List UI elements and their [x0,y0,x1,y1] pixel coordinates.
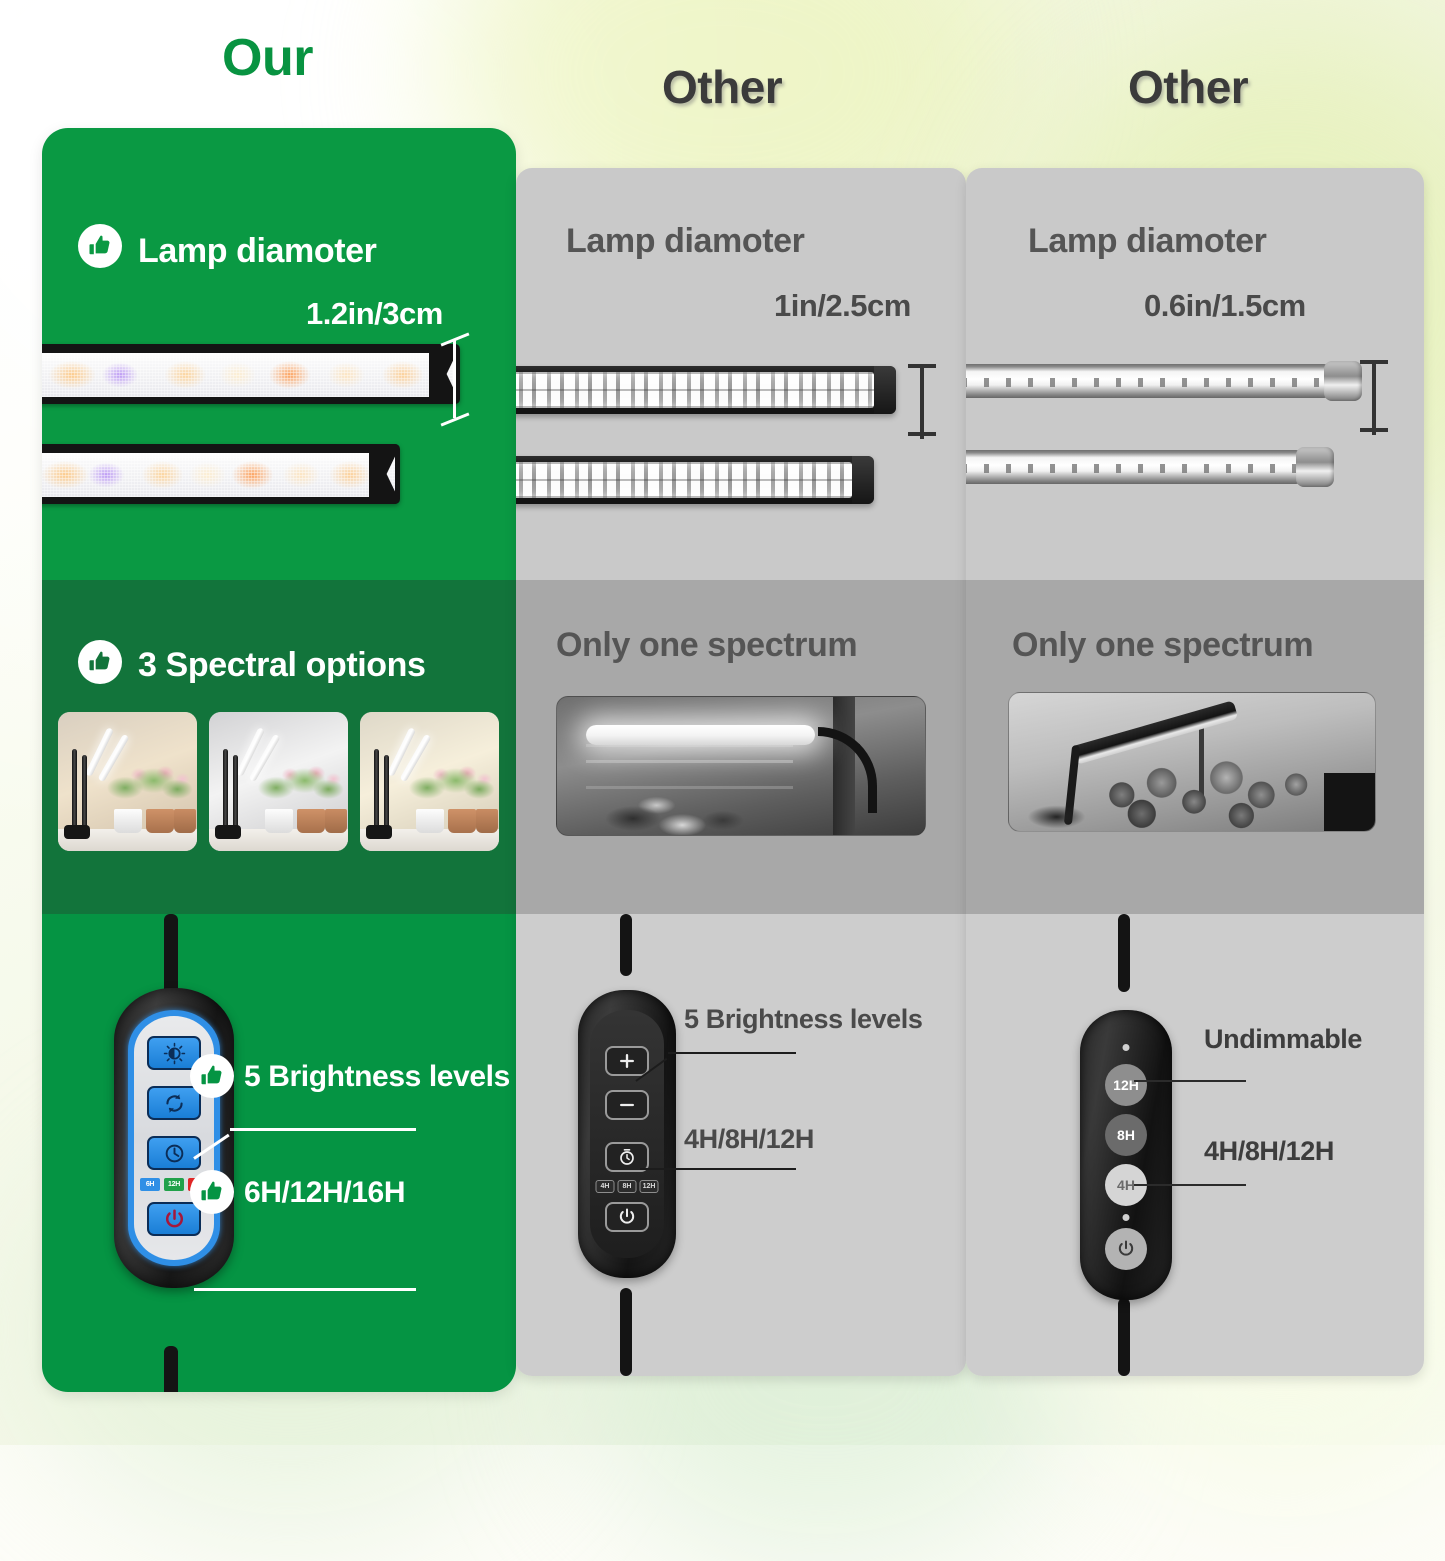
our-leader-line-brightness [194,1128,416,1162]
other2-spectrum-photo [1008,692,1376,832]
indicator-dot [1123,1214,1130,1221]
panel-other-1: Lamp diamoter 1in/2.5cm Only one spectru… [516,168,966,1376]
other2-callout-undimmable: Undimmable [1204,1024,1362,1055]
thumbs-up-icon [78,640,122,684]
other2-led-bar-bottom [966,450,1334,484]
led-face [42,353,455,397]
thumbs-up-icon [190,1054,234,1098]
other1-spectrum-photo [556,696,926,836]
other1-timer-led-group: 4H 8H 12H [596,1180,659,1193]
spectrum-thumbnail [360,712,499,851]
led-face [516,372,874,408]
timer-led-8h: 8H [618,1180,637,1193]
other2-controller: 12H 8H 4H [1080,1010,1172,1300]
our-spectrum-thumbnails [58,712,499,851]
timer-led-12h: 12H [164,1178,184,1191]
timer-12h-button[interactable]: 12H [1105,1064,1147,1106]
timer-8h-button[interactable]: 8H [1105,1114,1147,1156]
other2-cable-top [1118,914,1130,992]
power-button[interactable] [605,1202,649,1232]
led-tube [966,450,1300,484]
other1-leader-line-timer [640,1168,796,1171]
power-button[interactable] [1105,1228,1147,1270]
spectrum-thumbnail [58,712,197,851]
other1-led-bar-bottom [516,456,874,504]
other2-row-title-spectrum: Only one spectrum [1012,626,1313,665]
our-row-title-lamp-diameter: Lamp diamoter [138,232,377,271]
other1-led-bar-top [516,366,896,414]
our-callout-brightness: 5 Brightness levels [244,1060,510,1094]
led-face [42,453,395,497]
other1-row-title-spectrum: Only one spectrum [556,626,857,665]
our-led-bar-bottom [42,444,400,504]
other2-diameter-caliper [1360,360,1388,432]
panel-other-2: Lamp diamoter 0.6in/1.5cm Only one spect… [966,168,1424,1376]
header-our: Our [222,28,313,88]
other1-measure-lamp-diameter: 1in/2.5cm [774,288,911,324]
other2-leader-line-undimmable [1134,1080,1246,1083]
other2-led-bar-top [966,364,1362,398]
our-led-bar-top [42,344,460,404]
our-measure-lamp-diameter: 1.2in/3cm [306,296,443,332]
led-bar-tip [369,444,400,504]
spectrum-button[interactable] [147,1086,201,1120]
other1-diameter-caliper [908,364,936,436]
timer-led-4h: 4H [596,1180,615,1193]
power-button[interactable] [147,1202,201,1236]
other1-controller: 4H 8H 12H [578,990,676,1278]
other1-leader-line-brightness [636,1052,796,1086]
led-tube [966,364,1328,398]
our-cable-top [164,914,178,996]
other1-cable-bottom [620,1288,632,1376]
timer-button[interactable] [147,1136,201,1170]
timer-led-6h: 6H [140,1178,160,1191]
our-leader-line-timer [194,1288,416,1292]
spectrum-thumbnail [209,712,348,851]
other1-cable-top [620,914,632,976]
other2-row-title-lamp-diameter: Lamp diamoter [1028,222,1267,261]
comparison-column-headers: Our Other Other [0,0,1445,130]
header-other-1: Other [662,60,782,114]
header-other-2: Other [1128,60,1248,114]
other2-cable-bottom [1118,1298,1130,1376]
indicator-dot [1123,1044,1130,1051]
other1-callout-brightness: 5 Brightness levels [684,1004,923,1035]
our-row-title-spectrum: 3 Spectral options [138,646,426,685]
led-tube-cap [1296,447,1334,487]
led-bar-endcap [852,456,874,504]
other1-row-title-lamp-diameter: Lamp diamoter [566,222,805,261]
our-callout-timer: 6H/12H/16H [244,1176,405,1210]
panel-our: Lamp diamoter 1.2in/3cm 3 Spectral optio… [42,128,516,1392]
other2-measure-lamp-diameter: 0.6in/1.5cm [1144,288,1306,324]
thumbs-up-icon [78,224,122,268]
other2-callout-timer: 4H/8H/12H [1204,1136,1334,1167]
led-face [516,462,852,498]
minus-button[interactable] [605,1090,649,1120]
timer-led-12h: 12H [640,1180,659,1193]
led-tube-cap [1324,361,1362,401]
thumbs-up-icon [190,1170,234,1214]
other1-callout-timer: 4H/8H/12H [684,1124,814,1155]
led-bar-endcap [874,366,896,414]
other2-leader-line-timer [1134,1184,1246,1187]
our-cable-bottom [164,1346,178,1392]
our-diameter-caliper [440,336,472,428]
